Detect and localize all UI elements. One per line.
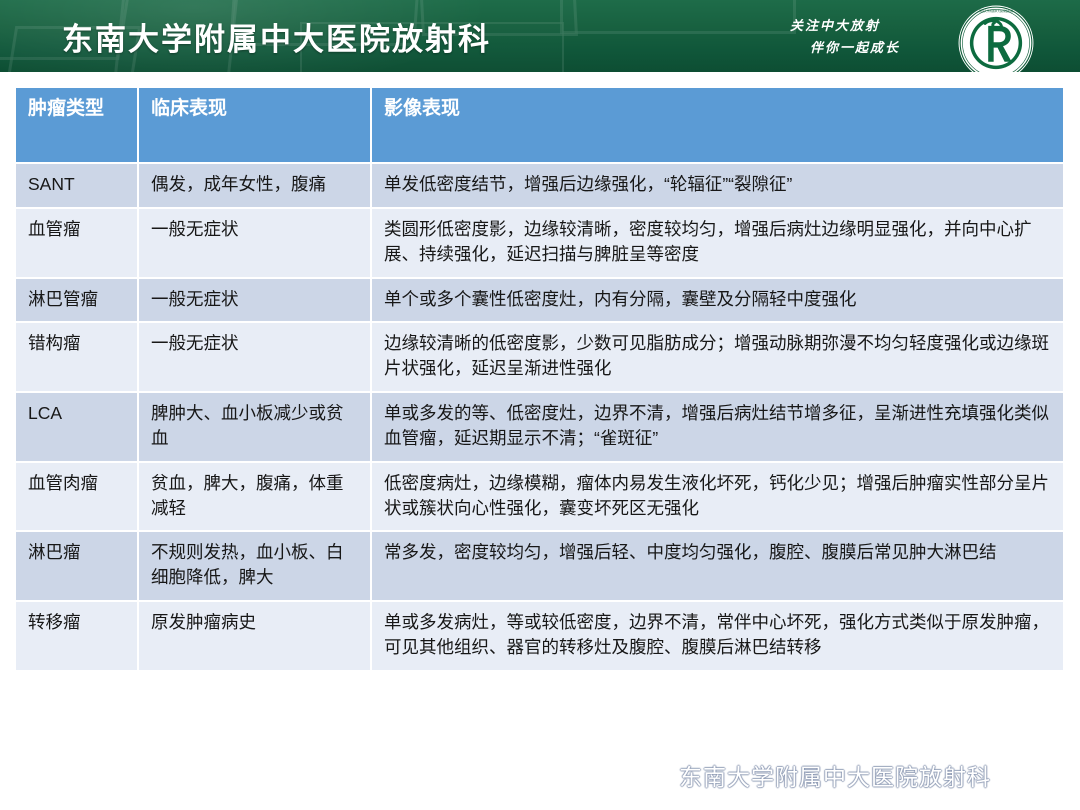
- page-header-banner: 东南大学附属中大医院放射科 关注中大放射 伴你一起成长 东南大学附属中大医院放射…: [0, 0, 1080, 72]
- cell-tumor-type: 转移瘤: [16, 601, 138, 671]
- table-body: SANT 偶发，成年女性，腹痛 单发低密度结节，增强后边缘强化，“轮辐征”“裂隙…: [16, 163, 1063, 671]
- table-row: LCA 脾肿大、血小板减少或贫血 单或多发的等、低密度灶，边界不清，增强后病灶结…: [16, 392, 1063, 462]
- table-row: 血管瘤 一般无症状 类圆形低密度影，边缘较清晰，密度较均匀，增强后病灶边缘明显强…: [16, 208, 1063, 278]
- table-row: 淋巴瘤 不规则发热，血小板、白细胞降低，脾大 常多发，密度较均匀，增强后轻、中度…: [16, 531, 1063, 601]
- table-row: 血管肉瘤 贫血，脾大，腹痛，体重减轻 低密度病灶，边缘模糊，瘤体内易发生液化坏死…: [16, 462, 1063, 532]
- wechat-watermark: 东南大学附属中大医院放射科: [640, 758, 991, 792]
- cell-imaging-features: 常多发，密度较均匀，增强后轻、中度均匀强化，腹腔、腹膜后常见肿大淋巴结: [371, 531, 1063, 601]
- page-title: 东南大学附属中大医院放射科: [62, 14, 491, 59]
- cell-clinical-features: 不规则发热，血小板、白细胞降低，脾大: [138, 531, 371, 601]
- table-row: SANT 偶发，成年女性，腹痛 单发低密度结节，增强后边缘强化，“轮辐征”“裂隙…: [16, 163, 1063, 208]
- cell-imaging-features: 低密度病灶，边缘模糊，瘤体内易发生液化坏死，钙化少见；增强后肿瘤实性部分呈片状或…: [371, 462, 1063, 532]
- tumor-comparison-table: 肿瘤类型 临床表现 影像表现 SANT 偶发，成年女性，腹痛 单发低密度结节，增…: [16, 88, 1063, 672]
- banner-slogan: 关注中大放射 伴你一起成长: [790, 16, 930, 60]
- cell-clinical-features: 脾肿大、血小板减少或贫血: [138, 392, 371, 462]
- cell-tumor-type: 淋巴管瘤: [16, 278, 138, 323]
- cell-clinical-features: 原发肿瘤病史: [138, 601, 371, 671]
- slogan-line-2: 伴你一起成长: [790, 38, 930, 60]
- cell-clinical-features: 贫血，脾大，腹痛，体重减轻: [138, 462, 371, 532]
- cell-clinical-features: 偶发，成年女性，腹痛: [138, 163, 371, 208]
- slogan-line-1: 关注中大放射: [790, 19, 880, 34]
- column-header-clinical-features: 临床表现: [138, 88, 371, 163]
- cell-imaging-features: 单或多发病灶，等或较低密度，边界不清，常伴中心坏死，强化方式类似于原发肿瘤，可见…: [371, 601, 1063, 671]
- table-row: 错构瘤 一般无症状 边缘较清晰的低密度影，少数可见脂肪成分；增强动脉期弥漫不均匀…: [16, 322, 1063, 392]
- cell-tumor-type: 错构瘤: [16, 322, 138, 392]
- cell-imaging-features: 类圆形低密度影，边缘较清晰，密度较均匀，增强后病灶边缘明显强化，并向中心扩展、持…: [371, 208, 1063, 278]
- cell-tumor-type: 血管瘤: [16, 208, 138, 278]
- table-row: 转移瘤 原发肿瘤病史 单或多发病灶，等或较低密度，边界不清，常伴中心坏死，强化方…: [16, 601, 1063, 671]
- cell-clinical-features: 一般无症状: [138, 208, 371, 278]
- cell-clinical-features: 一般无症状: [138, 322, 371, 392]
- table-header-row: 肿瘤类型 临床表现 影像表现: [16, 88, 1063, 163]
- radiology-department-emblem-icon: 东南大学附属中大医院放射科 DEPARTMENT OF RADIOLOGY: [957, 4, 1035, 72]
- cell-clinical-features: 一般无症状: [138, 278, 371, 323]
- cell-imaging-features: 单或多发的等、低密度灶，边界不清，增强后病灶结节增多征，呈渐进性充填强化类似血管…: [371, 392, 1063, 462]
- column-header-imaging-features: 影像表现: [371, 88, 1063, 163]
- svg-text:东南大学附属中大医院放射科: 东南大学附属中大医院放射科: [979, 9, 1014, 13]
- cell-tumor-type: SANT: [16, 163, 138, 208]
- table-row: 淋巴管瘤 一般无症状 单个或多个囊性低密度灶，内有分隔，囊壁及分隔轻中度强化: [16, 278, 1063, 323]
- cell-tumor-type: LCA: [16, 392, 138, 462]
- tumor-comparison-table-container: 肿瘤类型 临床表现 影像表现 SANT 偶发，成年女性，腹痛 单发低密度结节，增…: [16, 88, 1063, 672]
- column-header-tumor-type: 肿瘤类型: [16, 88, 138, 163]
- cell-tumor-type: 血管肉瘤: [16, 462, 138, 532]
- watermark-text: 东南大学附属中大医院放射科: [679, 758, 991, 792]
- cell-imaging-features: 边缘较清晰的低密度影，少数可见脂肪成分；增强动脉期弥漫不均匀轻度强化或边缘斑片状…: [371, 322, 1063, 392]
- cell-imaging-features: 单发低密度结节，增强后边缘强化，“轮辐征”“裂隙征”: [371, 163, 1063, 208]
- cell-imaging-features: 单个或多个囊性低密度灶，内有分隔，囊壁及分隔轻中度强化: [371, 278, 1063, 323]
- wechat-icon: [640, 762, 670, 788]
- cell-tumor-type: 淋巴瘤: [16, 531, 138, 601]
